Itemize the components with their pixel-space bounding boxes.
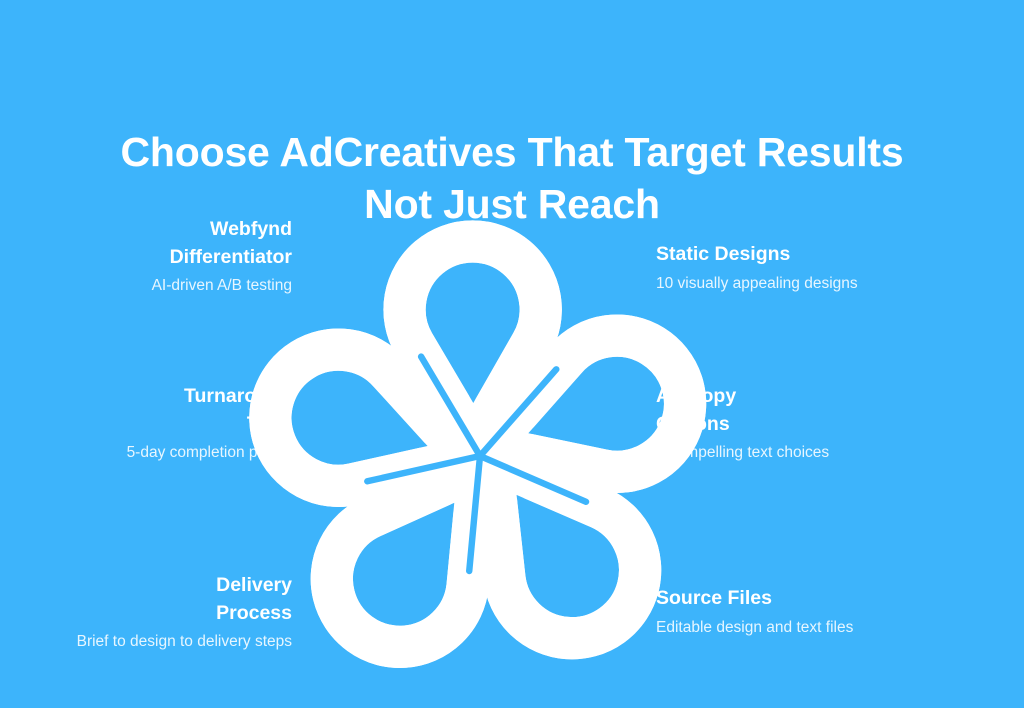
feature-title-line-1: Ad Copy xyxy=(656,385,736,407)
feature-ad-copy-options: Ad Copy Options 5 compelling text choice… xyxy=(656,383,886,465)
interlocking-knot-graphic xyxy=(296,252,664,660)
feature-title: Source Files xyxy=(656,585,886,613)
feature-title: Webfynd Differentiator xyxy=(62,216,292,271)
feature-static-designs: Static Designs 10 visually appealing des… xyxy=(656,241,886,295)
feature-description: 5-day completion period xyxy=(62,442,292,465)
page-title-line-1: Choose AdCreatives That Target Results xyxy=(62,127,962,179)
feature-title: Static Designs xyxy=(656,241,886,269)
feature-title: Ad Copy Options xyxy=(656,383,886,438)
slide-canvas: Choose AdCreatives That Target Results N… xyxy=(0,0,1024,708)
feature-title-line-1: Delivery xyxy=(216,574,292,596)
feature-description: Editable design and text files xyxy=(656,617,886,640)
feature-source-files: Source Files Editable design and text fi… xyxy=(656,585,886,639)
feature-title: Delivery Process xyxy=(62,572,292,627)
feature-description: AI-driven A/B testing xyxy=(62,275,292,298)
feature-title: Turnaround Time xyxy=(62,383,292,438)
feature-title-line-2: Process xyxy=(216,602,292,624)
feature-description: Brief to design to delivery steps xyxy=(62,631,292,654)
feature-description: 5 compelling text choices xyxy=(656,442,886,465)
feature-title-line-2: Time xyxy=(247,413,292,435)
feature-title-line-2: Differentiator xyxy=(170,246,292,268)
feature-title-line-2: Options xyxy=(656,413,730,435)
feature-turnaround-time: Turnaround Time 5-day completion period xyxy=(62,383,292,465)
feature-title-line-1: Turnaround xyxy=(184,385,292,407)
feature-delivery-process: Delivery Process Brief to design to deli… xyxy=(62,572,292,654)
feature-title-line-1: Webfynd xyxy=(210,218,292,240)
feature-webfynd-differentiator: Webfynd Differentiator AI-driven A/B tes… xyxy=(62,216,292,298)
feature-description: 10 visually appealing designs xyxy=(656,273,886,296)
